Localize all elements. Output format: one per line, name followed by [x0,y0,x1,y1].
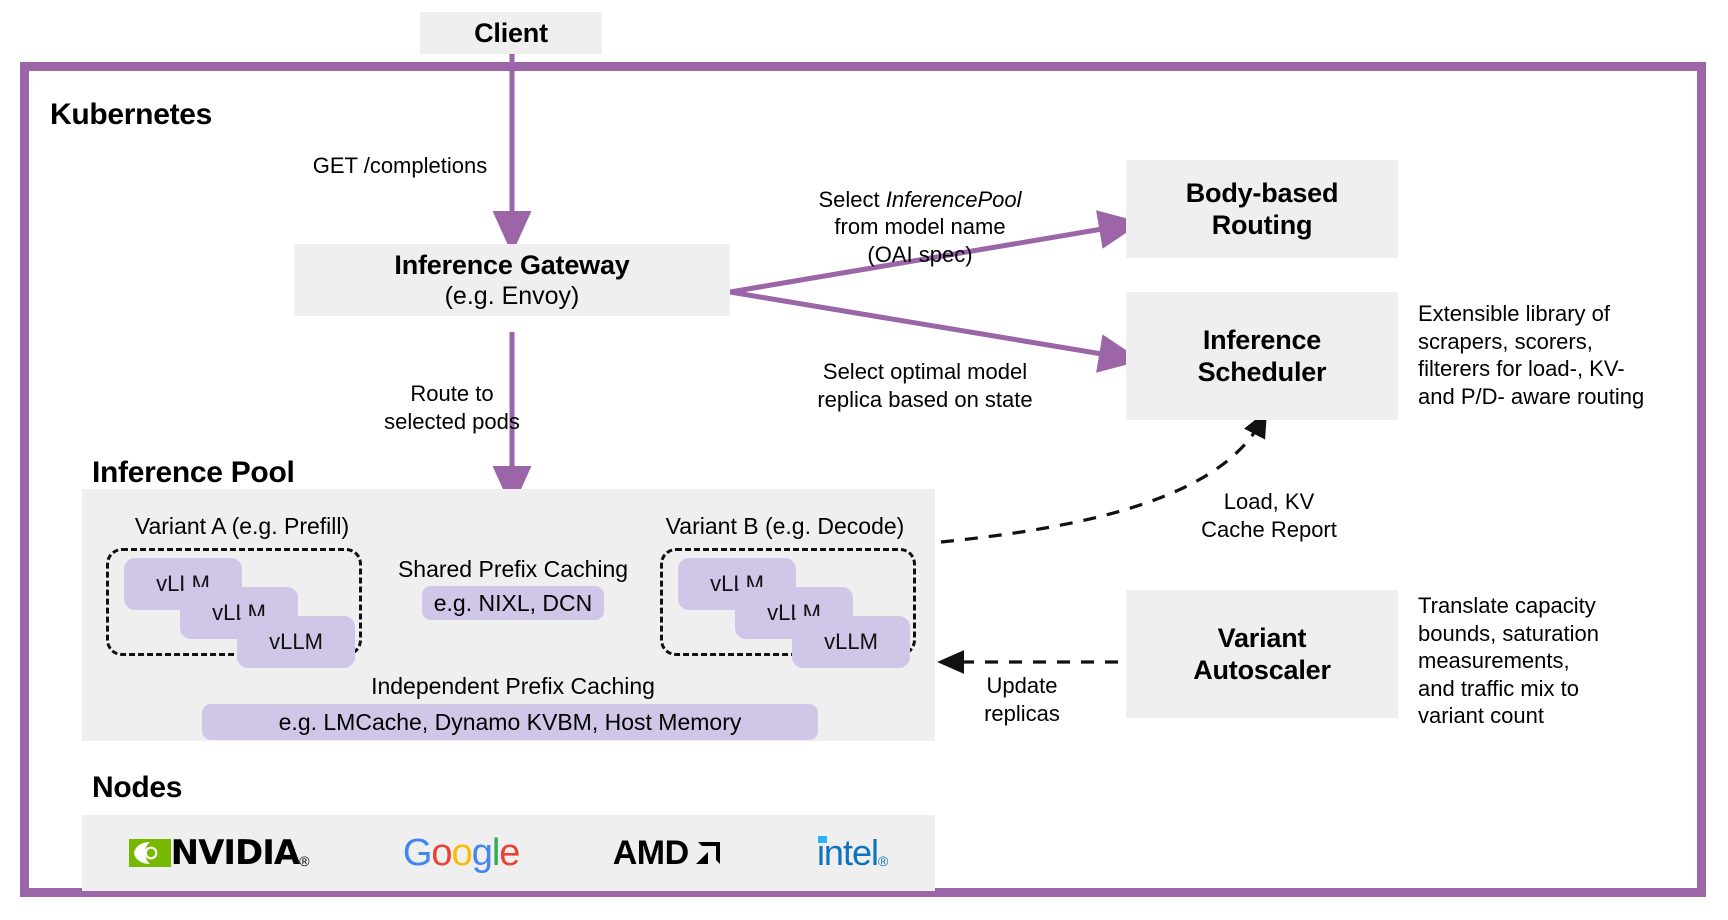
kubernetes-heading: Kubernetes [50,98,212,132]
intel-registered-mark: ® [878,853,888,874]
inference-gateway-box[interactable]: Inference Gateway (e.g. Envoy) [294,244,730,316]
label-get-completions: GET /completions [300,152,500,180]
variant-autoscaler-line2: Autoscaler [1193,654,1331,686]
variant-b-pod-3[interactable]: vLLM [792,616,910,668]
amd-wordmark: AMD [613,834,689,873]
select-inferencepool-pre: Select [818,187,885,212]
shared-prefix-caching-chip[interactable]: e.g. NIXL, DCN [422,586,604,620]
intel-logo: intel ® [817,832,888,874]
select-inferencepool-emphasis: InferencePool [886,187,1022,212]
amd-logo: AMD [613,834,724,873]
nvidia-logo: NVIDIA ® [129,833,310,873]
nodes-heading: Nodes [92,771,182,805]
body-based-routing-line1: Body-based [1186,177,1339,209]
label-route-to-selected-pods: Route to selected pods [362,380,542,435]
inference-pool-heading: Inference Pool [92,456,295,490]
independent-prefix-caching-chip-label: e.g. LMCache, Dynamo KVBM, Host Memory [279,709,742,736]
inference-gateway-title: Inference Gateway [394,249,629,281]
inference-scheduler-line2: Scheduler [1198,356,1327,388]
variant-autoscaler-box[interactable]: Variant Autoscaler [1126,590,1398,718]
variant-b-caption: Variant B (e.g. Decode) [654,513,916,540]
google-logo: Google Google [403,832,520,875]
amd-arrow-icon [692,838,724,868]
nvidia-eye-icon [129,838,171,868]
nvidia-registered-mark: ® [299,853,309,873]
select-inferencepool-post: from model name (OAI spec) [834,214,1005,267]
scheduler-description: Extensible library of scrapers, scorers,… [1418,300,1718,410]
independent-prefix-caching-chip[interactable]: e.g. LMCache, Dynamo KVBM, Host Memory [202,704,818,740]
variant-b-pod-3-label: vLLM [824,629,878,655]
label-select-optimal-replica: Select optimal model replica based on st… [790,358,1060,413]
client-label: Client [474,17,548,49]
client-box[interactable]: Client [420,12,602,54]
shared-prefix-caching-chip-label: e.g. NIXL, DCN [434,590,593,617]
variant-a-caption: Variant A (e.g. Prefill) [118,513,366,540]
intel-dot-accent [818,836,827,843]
inference-gateway-subtitle: (e.g. Envoy) [445,281,580,311]
google-wordmark: Google [403,832,520,875]
variant-a-pod-3-label: vLLM [269,629,323,655]
label-select-inferencepool: Select InferencePool from model name (OA… [790,158,1050,268]
variant-a-pod-3[interactable]: vLLM [237,616,355,668]
variant-autoscaler-line1: Variant [1218,622,1307,654]
nvidia-wordmark: NVIDIA [171,833,300,873]
autoscaler-description: Translate capacity bounds, saturation me… [1418,592,1718,730]
body-based-routing-line2: Routing [1212,209,1313,241]
shared-prefix-caching-caption: Shared Prefix Caching [384,556,642,583]
body-based-routing-box[interactable]: Body-based Routing [1126,160,1398,258]
nodes-panel: NVIDIA ® Google Google AMD intel ® [82,815,935,891]
diagram-canvas: Client Kubernetes GET /completions Infer… [0,0,1728,920]
independent-prefix-caching-caption: Independent Prefix Caching [356,673,670,700]
label-load-kv-cache-report: Load, KV Cache Report [1174,488,1364,543]
inference-scheduler-line1: Inference [1203,324,1321,356]
inference-scheduler-box[interactable]: Inference Scheduler [1126,292,1398,420]
label-update-replicas: Update replicas [952,672,1092,727]
